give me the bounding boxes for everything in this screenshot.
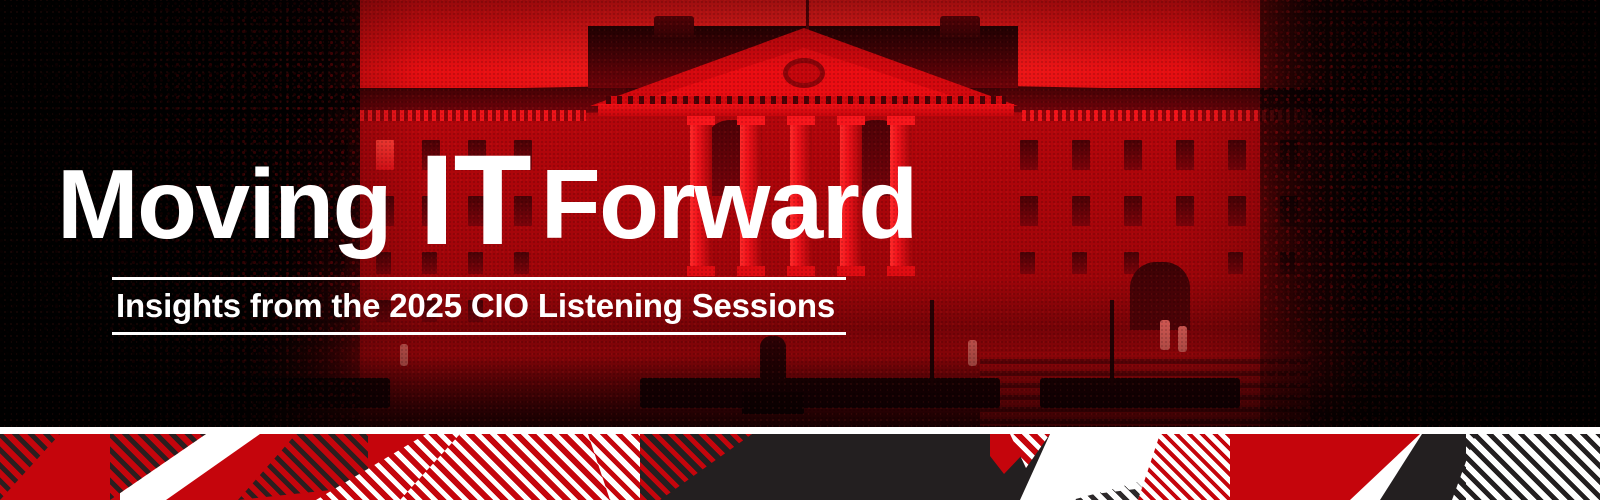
title-word-moving: Moving — [57, 155, 391, 253]
title-lockup: Moving IT Forward — [57, 131, 917, 259]
subtitle-block: Insights from the 2025 CIO Listening Ses… — [112, 277, 846, 335]
subtitle-rule-bottom — [112, 332, 846, 335]
title-word-forward: Forward — [541, 155, 917, 253]
subtitle-text: Insights from the 2025 CIO Listening Ses… — [112, 280, 846, 332]
page-title: Moving IT Forward — [57, 131, 917, 259]
white-separator-strip — [0, 427, 1600, 434]
title-word-it: IT — [419, 137, 531, 265]
moving-it-forward-banner: Moving IT Forward Insights from the 2025… — [0, 0, 1600, 500]
band-segment-white-stripes-overlay — [1466, 434, 1600, 500]
decorative-pattern-band — [0, 434, 1600, 500]
